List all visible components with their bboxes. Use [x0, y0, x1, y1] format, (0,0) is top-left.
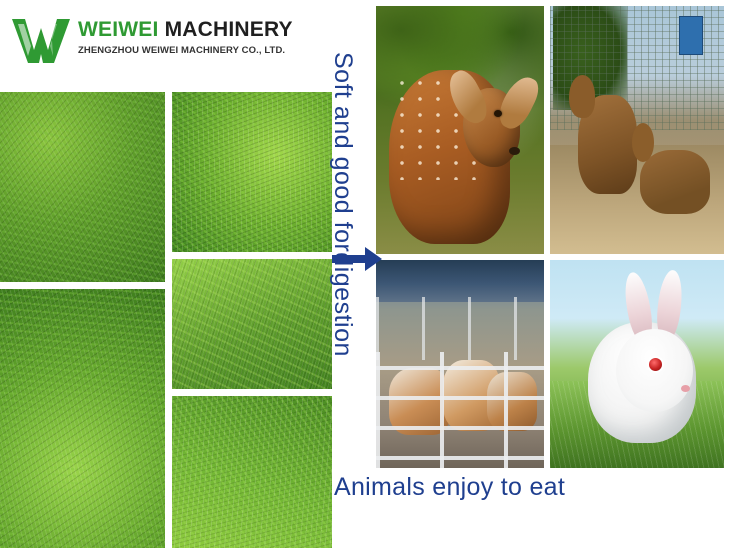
shed-pillars — [376, 297, 544, 359]
vertical-slogan: Soft and good fordigestion — [326, 52, 360, 452]
company-legal-name: ZHENGZHOU WEIWEI MACHINERY CO., LTD. — [78, 45, 318, 56]
rabbit-eye — [647, 356, 664, 373]
yard-deer-standing-head — [569, 75, 595, 117]
brand-name-secondary: MACHINERY — [165, 18, 293, 41]
yard-deer-lying — [640, 150, 710, 214]
brand-logo: WEIWEI MACHINERY ZHENGZHOU WEIWEI MACHIN… — [10, 14, 310, 76]
grass-panel-bottom-left — [0, 289, 165, 548]
photo-white-rabbit-on-grass — [550, 260, 724, 468]
grass-panel-bottom-right — [172, 396, 332, 548]
collage-divider-right-horizontal-2 — [172, 389, 332, 396]
grass-panel-top-left — [0, 92, 165, 282]
collage-divider-right-horizontal-1 — [172, 252, 332, 259]
shed-steel-posts — [376, 352, 544, 468]
grass-panel-middle — [172, 259, 332, 389]
grass-panel-top-right — [172, 92, 332, 252]
yard-blue-sign — [679, 16, 704, 55]
weiwei-w-logo-icon — [10, 16, 72, 66]
deer-eye — [494, 110, 502, 117]
deer-muzzle — [509, 147, 520, 155]
collage-divider-vertical — [165, 92, 172, 548]
poster-canvas: WEIWEI MACHINERY ZHENGZHOU WEIWEI MACHIN… — [0, 0, 730, 548]
brand-wordmark: WEIWEI MACHINERY ZHENGZHOU WEIWEI MACHIN… — [78, 18, 318, 56]
brand-name-primary: WEIWEI — [78, 18, 159, 41]
chopped-grass-collage — [0, 92, 332, 548]
shed-roof — [376, 260, 544, 302]
bottom-caption: Animals enjoy to eat — [334, 473, 724, 502]
photo-spotted-deer-in-forest — [376, 6, 544, 254]
rabbit-nose — [681, 385, 690, 392]
photo-deer-in-farm-yard — [550, 6, 724, 254]
animal-photo-collage — [376, 6, 724, 468]
brand-name: WEIWEI MACHINERY — [78, 18, 318, 42]
photo-cattle-in-shed — [376, 260, 544, 468]
collage-divider-left-horizontal — [0, 282, 165, 289]
